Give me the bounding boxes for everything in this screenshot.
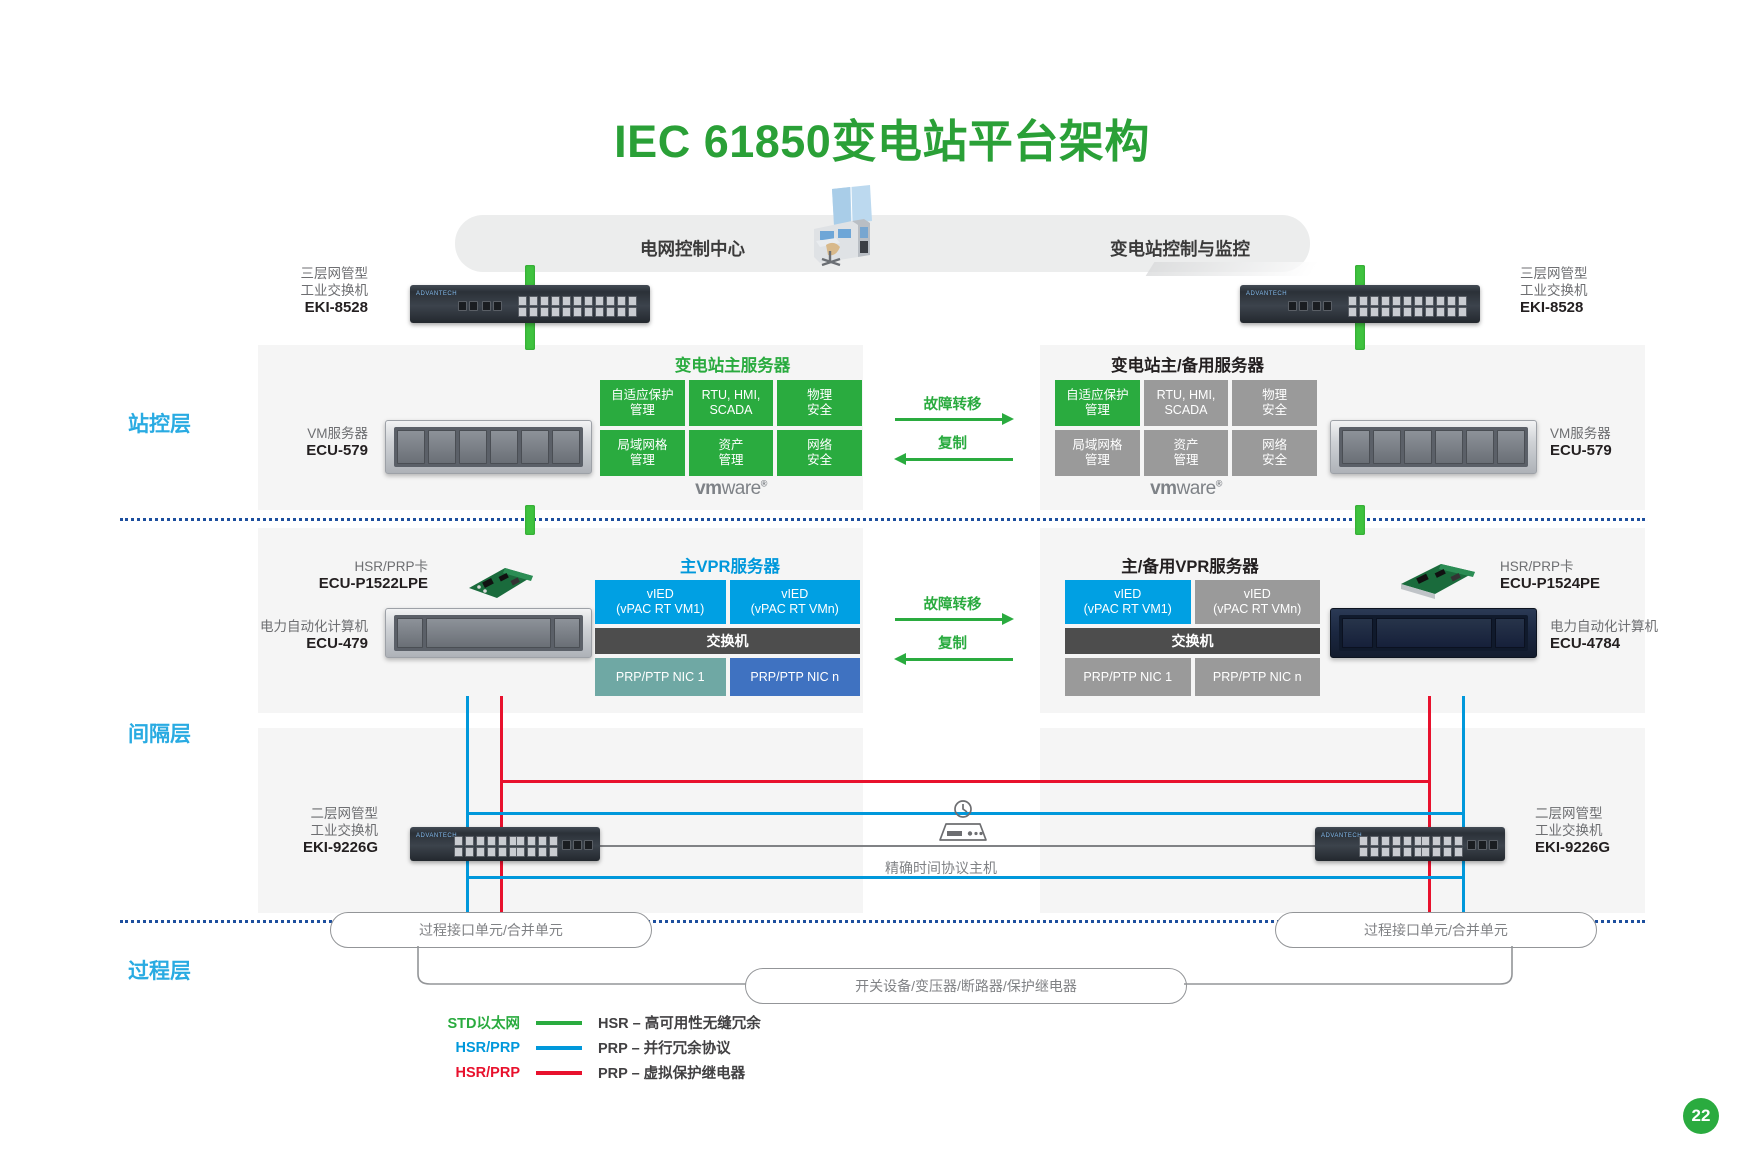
line-red-horizontal xyxy=(500,780,1428,783)
cell-lan-grid-management[interactable]: 局域网格管理 xyxy=(600,430,685,476)
vendor-logo: ADVANTECH xyxy=(416,833,457,839)
banner-shadow xyxy=(1146,262,1320,276)
connector-right-pill-to-equipment xyxy=(1184,946,1514,986)
switch-model-bottom-right: EKI-9226G xyxy=(1535,839,1610,856)
switch-label-top-left: 三层网管型 工业交换机 EKI-8528 xyxy=(258,265,368,316)
legend-desc-hsr: HSR – 高可用性无缝冗余 xyxy=(598,1012,761,1033)
clock-server-icon xyxy=(930,800,996,846)
vendor-logo: ADVANTECH xyxy=(1246,291,1287,297)
vendor-logo: ADVANTECH xyxy=(1321,833,1362,839)
primary-server-title: 变电站主服务器 xyxy=(600,352,865,376)
vm-server-label-left: VM服务器 ECU-579 xyxy=(258,425,368,459)
pac-label-left: 电力自动化计算机 ECU-479 xyxy=(258,618,368,652)
vendor-logo: ADVANTECH xyxy=(416,291,457,297)
failover-label-station: 故障转移 xyxy=(895,393,1010,414)
vm-server-name-left: VM服务器 xyxy=(258,425,368,442)
vied-vm1[interactable]: vIED(vPAC RT VM1) xyxy=(1065,580,1191,624)
card-model-right: ECU-P1524PE xyxy=(1500,575,1600,592)
switch-type-bottom-right: 二层网管型 xyxy=(1535,805,1665,822)
operator-console-icon xyxy=(800,185,890,267)
switch-label-bottom-left: 二层网管型 工业交换机 EKI-9226G xyxy=(258,805,378,856)
process-interface-unit-left[interactable]: 过程接口单元/合并单元 xyxy=(330,912,652,948)
legend-swatch-green xyxy=(536,1021,582,1025)
standby-server-title: 变电站主/备用服务器 xyxy=(1055,352,1320,376)
vm-server-model-right: ECU-579 xyxy=(1550,442,1612,459)
switch-type-bottom-left: 二层网管型 xyxy=(258,805,378,822)
vied-vmn[interactable]: vIED(vPAC RT VMn) xyxy=(730,580,861,624)
server-rack-ecu4784-right[interactable] xyxy=(1330,608,1537,658)
cell-adaptive-protection[interactable]: 自适应保护管理 xyxy=(1055,380,1140,426)
nic-prp-ptp-1[interactable]: PRP/PTP NIC 1 xyxy=(595,658,726,696)
pac-label-right: 电力自动化计算机 ECU-4784 xyxy=(1550,618,1670,652)
standby-vpr-vied-row: vIED(vPAC RT VM1) vIED(vPAC RT VMn) xyxy=(1065,580,1320,624)
replicate-label-station: 复制 xyxy=(895,432,1010,453)
legend: STD以太网 HSR – 高可用性无缝冗余 HSR/PRP PRP – 并行冗余… xyxy=(425,1010,845,1085)
cell-rtu-hmi-scada[interactable]: RTU, HMI,SCADA xyxy=(1144,380,1229,426)
switch-label-bottom-right: 二层网管型 工业交换机 EKI-9226G xyxy=(1535,805,1665,856)
layer-label-process: 过程层 xyxy=(128,955,191,985)
standby-vpr-title: 主/备用VPR服务器 xyxy=(1055,553,1325,577)
layer-separator-station-bay xyxy=(120,518,1645,521)
switch-model-top-left: EKI-8528 xyxy=(305,299,368,316)
cell-rtu-hmi-scada[interactable]: RTU, HMI,SCADA xyxy=(689,380,774,426)
cell-network-security[interactable]: 网络安全 xyxy=(777,430,862,476)
process-interface-unit-right[interactable]: 过程接口单元/合并单元 xyxy=(1275,912,1597,948)
cell-network-security[interactable]: 网络安全 xyxy=(1232,430,1317,476)
replicate-arrow-station xyxy=(905,458,1013,461)
banner-label-substation-control: 变电站控制与监控 xyxy=(1110,236,1250,261)
connector-left-pill-to-equipment xyxy=(416,946,746,986)
replicate-arrow-bay xyxy=(905,658,1013,661)
primary-vpr-switch[interactable]: 交换机 xyxy=(595,628,860,654)
failover-arrow-bay xyxy=(895,618,1003,621)
server-rack-ecu479-left[interactable] xyxy=(385,608,592,658)
vm-server-label-right: VM服务器 ECU-579 xyxy=(1550,425,1660,459)
nic-prp-ptp-n[interactable]: PRP/PTP NIC n xyxy=(1195,658,1321,696)
failover-arrow-station xyxy=(895,418,1003,421)
cable-station-to-bay-left xyxy=(525,505,535,535)
page-number-badge: 22 xyxy=(1683,1098,1719,1134)
switch-sub-top-right: 工业交换机 xyxy=(1520,282,1640,299)
switch-eki-9226g-right[interactable]: ADVANTECH xyxy=(1315,827,1505,861)
primary-server-cells: 自适应保护管理 RTU, HMI,SCADA 物理安全 局域网格管理 资产管理 … xyxy=(600,380,862,476)
legend-row: STD以太网 HSR – 高可用性无缝冗余 xyxy=(425,1010,845,1035)
standby-vpr-nic-row: PRP/PTP NIC 1 PRP/PTP NIC n xyxy=(1065,658,1320,696)
switch-label-top-right: 三层网管型 工业交换机 EKI-8528 xyxy=(1520,265,1640,316)
primary-vpr-title: 主VPR服务器 xyxy=(595,553,865,577)
cable-top-left-down xyxy=(525,320,535,350)
server-rack-ecu579-right[interactable] xyxy=(1330,420,1537,474)
line-blue-right-vertical xyxy=(1462,696,1465,931)
primary-vpr-nic-row: PRP/PTP NIC 1 PRP/PTP NIC n xyxy=(595,658,860,696)
vied-vm1[interactable]: vIED(vPAC RT VM1) xyxy=(595,580,726,624)
legend-name-hsr-prp-blue: HSR/PRP xyxy=(425,1040,520,1056)
switch-model-top-right: EKI-8528 xyxy=(1520,299,1583,316)
hsr-prp-card-left[interactable] xyxy=(465,560,537,602)
server-rack-ecu579-left[interactable] xyxy=(385,420,592,474)
card-name-left: HSR/PRP卡 xyxy=(258,558,428,575)
legend-swatch-red xyxy=(536,1071,582,1075)
switch-model-bottom-left: EKI-9226G xyxy=(303,839,378,856)
pac-model-right: ECU-4784 xyxy=(1550,635,1620,652)
failover-label-bay: 故障转移 xyxy=(895,593,1010,614)
legend-desc-vpr: PRP – 虚拟保护继电器 xyxy=(598,1062,745,1083)
cell-lan-grid-management[interactable]: 局域网格管理 xyxy=(1055,430,1140,476)
standby-server-cells: 自适应保护管理 RTU, HMI,SCADA 物理安全 局域网格管理 资产管理 … xyxy=(1055,380,1317,476)
ptp-host-label: 精确时间协议主机 xyxy=(885,858,997,878)
card-label-left: HSR/PRP卡 ECU-P1522LPE xyxy=(258,558,428,592)
page-title: IEC 61850变电站平台架构 xyxy=(0,105,1764,170)
switch-eki-8528-right[interactable]: ADVANTECH xyxy=(1240,285,1480,323)
process-equipment[interactable]: 开关设备/变压器/断路器/保护继电器 xyxy=(745,968,1187,1004)
cable-top-right-down xyxy=(1355,320,1365,350)
switch-type-top-right: 三层网管型 xyxy=(1520,265,1640,282)
pac-model-left: ECU-479 xyxy=(306,635,368,652)
pac-name-left: 电力自动化计算机 xyxy=(258,618,368,635)
switch-type-top-left: 三层网管型 xyxy=(258,265,368,282)
switch-sub-bottom-right: 工业交换机 xyxy=(1535,822,1665,839)
layer-label-bay: 间隔层 xyxy=(128,718,191,748)
card-label-right: HSR/PRP卡 ECU-P1524PE xyxy=(1500,558,1670,592)
switch-sub-top-left: 工业交换机 xyxy=(258,282,368,299)
vied-vmn[interactable]: vIED(vPAC RT VMn) xyxy=(1195,580,1321,624)
cable-station-to-bay-right xyxy=(1355,505,1365,535)
cell-adaptive-protection[interactable]: 自适应保护管理 xyxy=(600,380,685,426)
layer-label-station: 站控层 xyxy=(128,408,191,438)
hsr-prp-card-right[interactable] xyxy=(1395,558,1481,602)
standby-vpr-switch[interactable]: 交换机 xyxy=(1065,628,1320,654)
vm-server-model-left: ECU-579 xyxy=(306,442,368,459)
cell-physical-security[interactable]: 物理安全 xyxy=(1232,380,1317,426)
cell-asset-management[interactable]: 资产管理 xyxy=(689,430,774,476)
card-name-right: HSR/PRP卡 xyxy=(1500,558,1670,575)
primary-vpr-vied-row: vIED(vPAC RT VM1) vIED(vPAC RT VMn) xyxy=(595,580,860,624)
legend-swatch-blue xyxy=(536,1046,582,1050)
legend-desc-prp: PRP – 并行冗余协议 xyxy=(598,1037,731,1058)
vm-server-name-right: VM服务器 xyxy=(1550,425,1660,442)
replicate-label-bay: 复制 xyxy=(895,632,1010,653)
nic-prp-ptp-n[interactable]: PRP/PTP NIC n xyxy=(730,658,861,696)
legend-row: HSR/PRP PRP – 并行冗余协议 xyxy=(425,1035,845,1060)
card-model-left: ECU-P1522LPE xyxy=(319,575,428,592)
legend-name-hsr-prp-red: HSR/PRP xyxy=(425,1065,520,1081)
switch-eki-8528-left[interactable]: ADVANTECH xyxy=(410,285,650,323)
legend-row: HSR/PRP PRP – 虚拟保护继电器 xyxy=(425,1060,845,1085)
cell-asset-management[interactable]: 资产管理 xyxy=(1144,430,1229,476)
nic-prp-ptp-1[interactable]: PRP/PTP NIC 1 xyxy=(1065,658,1191,696)
switch-eki-9226g-left[interactable]: ADVANTECH xyxy=(410,827,600,861)
banner-label-grid-control-center: 电网控制中心 xyxy=(640,236,745,261)
cell-physical-security[interactable]: 物理安全 xyxy=(777,380,862,426)
pac-name-right: 电力自动化计算机 xyxy=(1550,618,1670,635)
legend-name-std-ethernet: STD以太网 xyxy=(425,1012,520,1033)
switch-sub-bottom-left: 工业交换机 xyxy=(258,822,378,839)
